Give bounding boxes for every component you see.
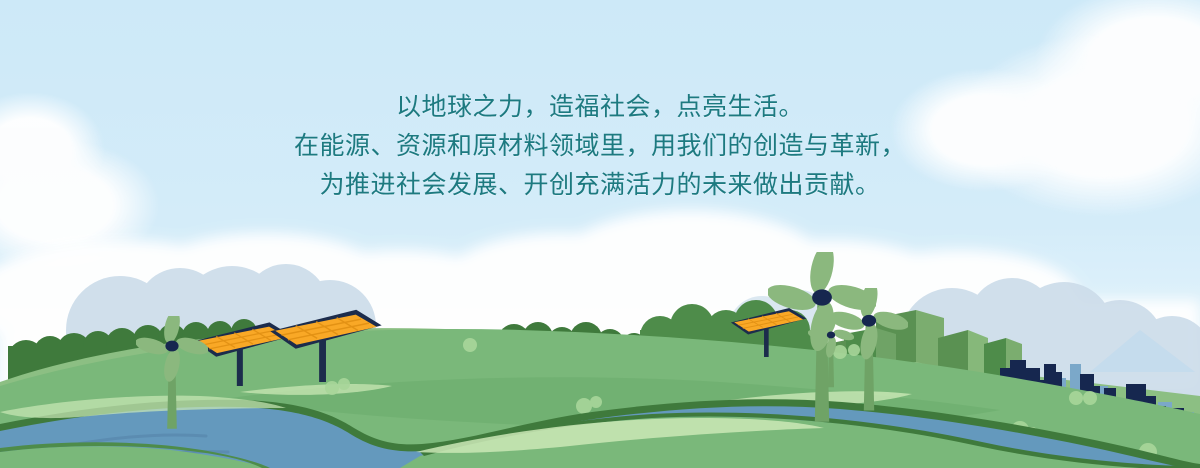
cloud-right-mid — [890, 68, 1080, 192]
eco-banner: 以地球之力，造福社会，点亮生活。 在能源、资源和原材料领域里，用我们的创造与革新… — [0, 0, 1200, 468]
landscape-illustration — [0, 0, 1200, 468]
